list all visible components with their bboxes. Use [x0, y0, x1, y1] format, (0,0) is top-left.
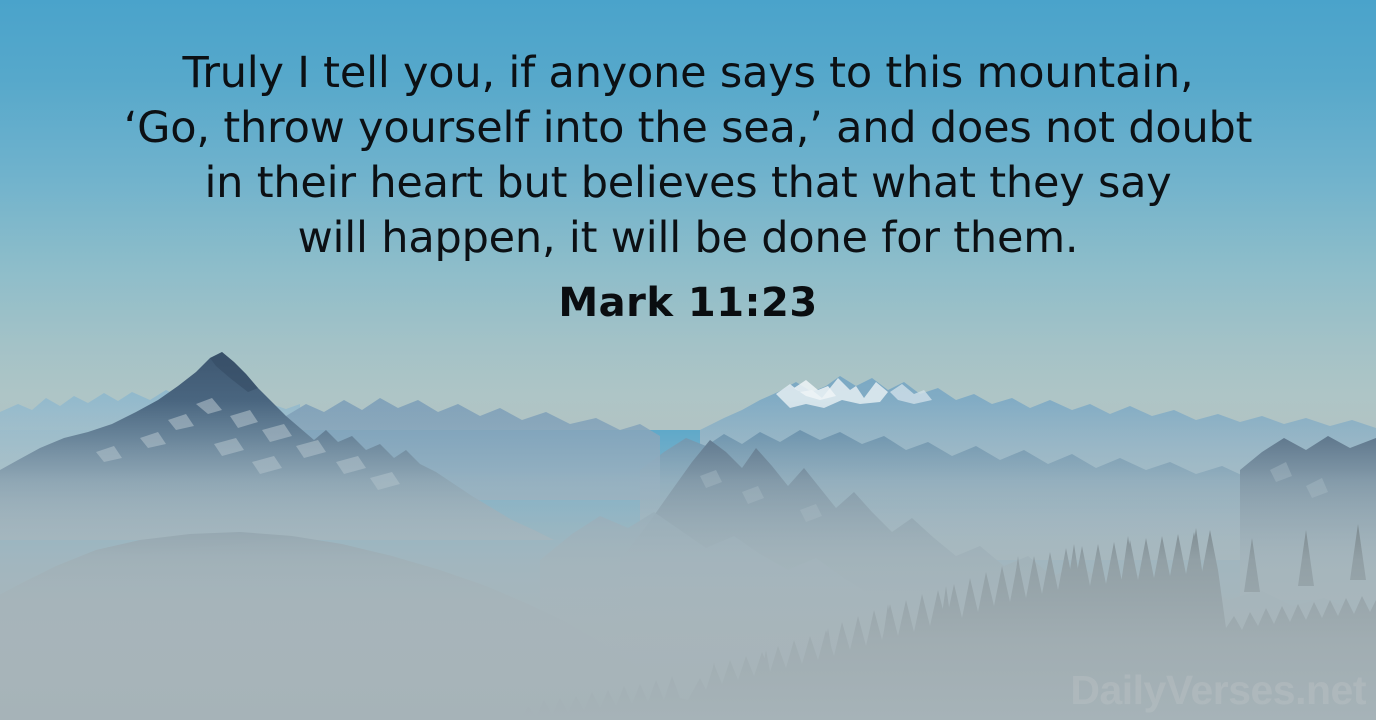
- verse-line-2: ‘Go, throw yourself into the sea,’ and d…: [0, 101, 1376, 156]
- verse-line-1: Truly I tell you, if anyone says to this…: [0, 46, 1376, 101]
- site-watermark: DailyVerses.net: [1070, 667, 1366, 714]
- verse-line-3: in their heart but believes that what th…: [0, 156, 1376, 211]
- verse-line-4: will happen, it will be done for them.: [0, 211, 1376, 266]
- verse-reference: Mark 11:23: [0, 280, 1376, 326]
- verse-text-block: Truly I tell you, if anyone says to this…: [0, 46, 1376, 326]
- verse-image-card: Truly I tell you, if anyone says to this…: [0, 0, 1376, 720]
